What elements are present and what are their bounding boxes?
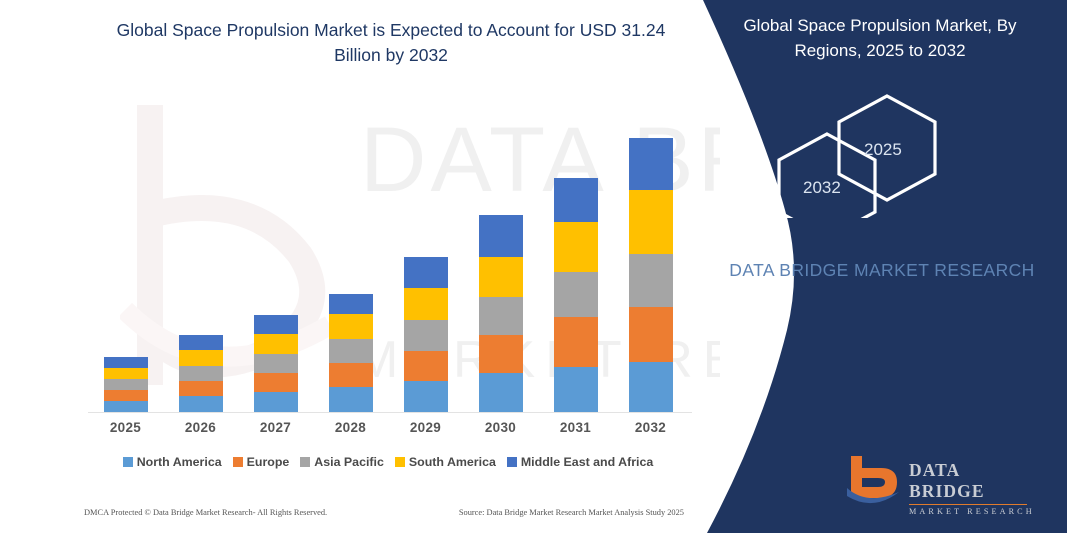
x-axis-label: 2029 bbox=[404, 420, 448, 435]
hexagon-2032-label: 2032 bbox=[803, 178, 841, 198]
logo-sub-text: MARKET RESEARCH bbox=[909, 507, 1035, 516]
bar-segment bbox=[104, 390, 148, 401]
bar-column bbox=[329, 294, 373, 412]
bar-segment bbox=[179, 396, 223, 412]
legend-item[interactable]: North America bbox=[123, 455, 222, 469]
legend-label: Europe bbox=[247, 455, 290, 469]
logo-main-text: DATA BRIDGE bbox=[909, 460, 1035, 502]
bar-segment bbox=[554, 222, 598, 272]
bar-segment bbox=[404, 351, 448, 381]
bar-segment bbox=[479, 297, 523, 335]
footer-copyright: DMCA Protected © Data Bridge Market Rese… bbox=[84, 508, 327, 517]
infographic-root: DATA BRIDGE MARKET RESEARCH Global Space… bbox=[0, 0, 1067, 533]
bar-segment bbox=[554, 272, 598, 317]
legend-swatch bbox=[395, 457, 405, 467]
x-axis-label: 2030 bbox=[479, 420, 523, 435]
bar-segment bbox=[479, 215, 523, 257]
legend-swatch bbox=[300, 457, 310, 467]
x-axis-label: 2026 bbox=[179, 420, 223, 435]
bar-segment bbox=[104, 379, 148, 390]
bar-column bbox=[479, 215, 523, 412]
bar-segment bbox=[629, 362, 673, 412]
right-panel-title: Global Space Propulsion Market, By Regio… bbox=[715, 14, 1045, 63]
bar-segment bbox=[629, 307, 673, 362]
bar-segment bbox=[104, 357, 148, 368]
x-axis-label: 2032 bbox=[629, 420, 673, 435]
logo-wordmark: DATA BRIDGE MARKET RESEARCH bbox=[909, 460, 1035, 516]
chart-legend: North AmericaEuropeAsia PacificSouth Ame… bbox=[88, 455, 688, 469]
bar-column bbox=[179, 335, 223, 412]
hexagon-2032-outline bbox=[779, 134, 875, 218]
brand-name: DATA BRIDGE MARKET RESEARCH bbox=[712, 258, 1052, 283]
bar-segment bbox=[254, 315, 298, 334]
hexagon-group: 2025 2032 bbox=[767, 88, 997, 218]
bar-segment bbox=[329, 363, 373, 387]
legend-label: Asia Pacific bbox=[314, 455, 384, 469]
hexagon-2025-label: 2025 bbox=[864, 140, 902, 160]
legend-label: South America bbox=[409, 455, 496, 469]
bar-segment bbox=[179, 381, 223, 396]
footer-source: Source: Data Bridge Market Research Mark… bbox=[459, 508, 684, 517]
right-panel: Global Space Propulsion Market, By Regio… bbox=[667, 0, 1067, 533]
bar-segment bbox=[404, 381, 448, 412]
bar-segment bbox=[329, 294, 373, 314]
legend-swatch bbox=[507, 457, 517, 467]
bar-segment bbox=[479, 373, 523, 412]
page-title: Global Space Propulsion Market is Expect… bbox=[96, 18, 686, 69]
bar-segment bbox=[179, 366, 223, 381]
x-axis-label: 2027 bbox=[254, 420, 298, 435]
bar-segment bbox=[329, 387, 373, 412]
bar-segment bbox=[179, 335, 223, 350]
logo-divider bbox=[909, 504, 1027, 505]
bar-segment bbox=[479, 335, 523, 373]
logo-mark-icon bbox=[845, 452, 901, 504]
bar-segment bbox=[629, 190, 673, 254]
bar-segment bbox=[404, 257, 448, 288]
bar-segment bbox=[104, 401, 148, 412]
bar-segment bbox=[104, 368, 148, 379]
x-axis-label: 2028 bbox=[329, 420, 373, 435]
bar-segment bbox=[329, 339, 373, 363]
bar-segment bbox=[254, 392, 298, 412]
footer: DMCA Protected © Data Bridge Market Rese… bbox=[84, 508, 684, 517]
stacked-bar-chart bbox=[88, 120, 688, 412]
legend-item[interactable]: South America bbox=[395, 455, 496, 469]
x-axis-label: 2025 bbox=[104, 420, 148, 435]
chart-bars bbox=[88, 120, 688, 412]
bar-column bbox=[104, 357, 148, 412]
bar-segment bbox=[254, 354, 298, 373]
bar-segment bbox=[629, 254, 673, 307]
legend-item[interactable]: Asia Pacific bbox=[300, 455, 384, 469]
legend-label: North America bbox=[137, 455, 222, 469]
legend-swatch bbox=[123, 457, 133, 467]
bar-column bbox=[254, 315, 298, 412]
bar-segment bbox=[479, 257, 523, 297]
bar-column bbox=[404, 257, 448, 412]
bar-segment bbox=[629, 138, 673, 190]
bar-segment bbox=[404, 320, 448, 351]
bar-segment bbox=[554, 367, 598, 412]
bar-segment bbox=[554, 317, 598, 367]
legend-item[interactable]: Middle East and Africa bbox=[507, 455, 653, 469]
x-axis-label: 2031 bbox=[554, 420, 598, 435]
bar-segment bbox=[329, 314, 373, 339]
bar-segment bbox=[404, 288, 448, 320]
bar-column bbox=[629, 138, 673, 412]
bar-segment bbox=[554, 178, 598, 222]
company-logo: DATA BRIDGE MARKET RESEARCH bbox=[845, 452, 1035, 508]
legend-swatch bbox=[233, 457, 243, 467]
x-axis-labels: 20252026202720282029203020312032 bbox=[88, 420, 688, 435]
legend-item[interactable]: Europe bbox=[233, 455, 290, 469]
x-axis-line bbox=[88, 412, 692, 413]
bar-segment bbox=[254, 334, 298, 354]
bar-segment bbox=[179, 350, 223, 366]
bar-column bbox=[554, 178, 598, 412]
legend-label: Middle East and Africa bbox=[521, 455, 653, 469]
bar-segment bbox=[254, 373, 298, 392]
